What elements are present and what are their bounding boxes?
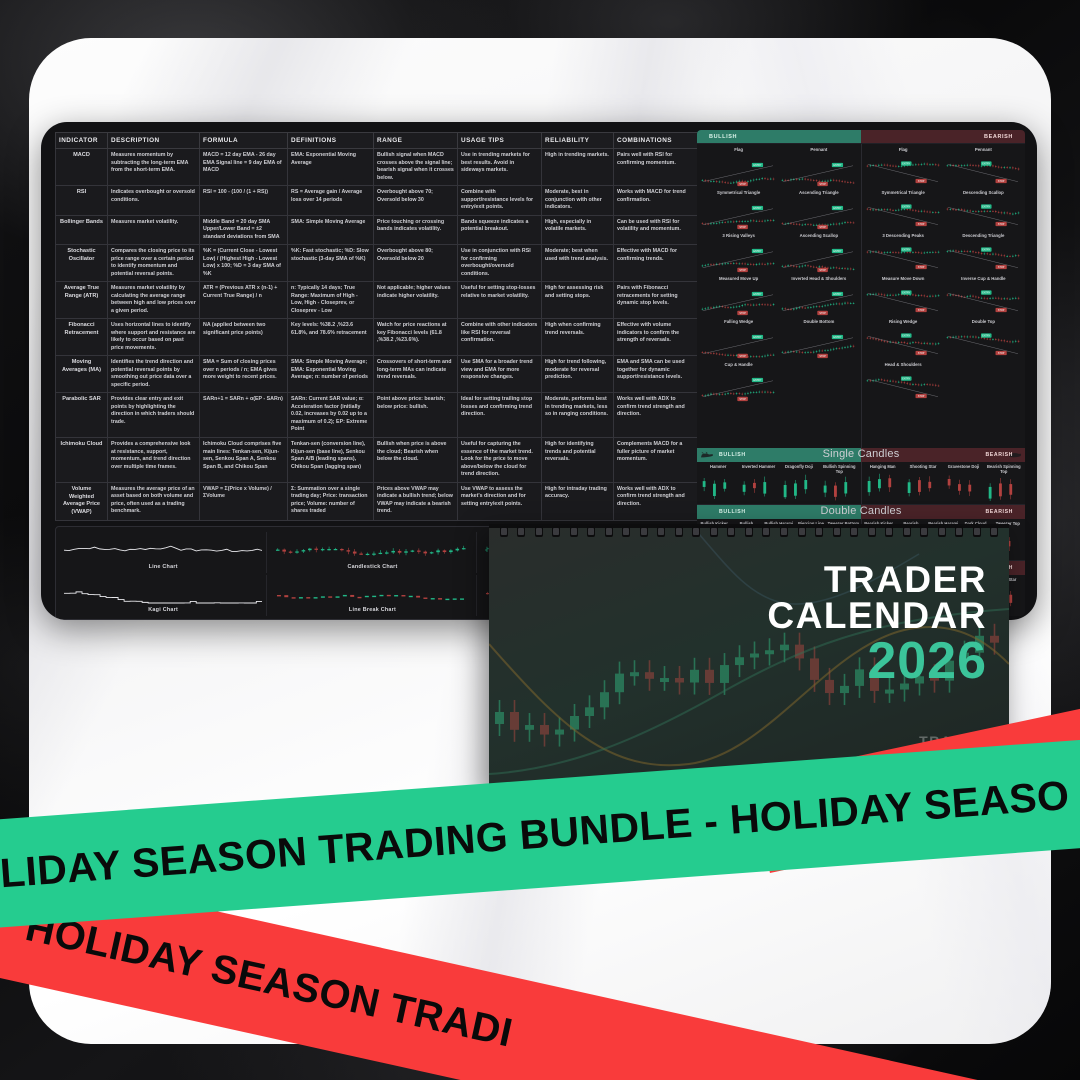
- band-tag-bearish-2: BEARISH: [985, 509, 1013, 515]
- cell-formula: %K = (Current Close - Lowest Low) / (Hig…: [200, 245, 288, 282]
- spiral-ring: [587, 526, 595, 537]
- cell-indicator: Ichimoku Cloud: [56, 437, 108, 482]
- pattern-header-bullish: BULLISH: [697, 130, 861, 143]
- cell-definitions: Σ: Summation over a single trading day; …: [288, 482, 374, 521]
- svg-text:ENTRY: ENTRY: [902, 378, 910, 381]
- cell-combinations: Pairs with Fibonacci retracements for se…: [614, 282, 698, 319]
- table-header-1: DESCRIPTION: [108, 133, 200, 149]
- candle-hammer: Hammer: [698, 464, 738, 500]
- svg-text:STOP: STOP: [739, 226, 746, 229]
- cell-usage: Use VWAP to assess the market's directio…: [458, 482, 542, 521]
- pattern-label: Flag: [734, 147, 743, 157]
- spiral-ring: [938, 526, 946, 537]
- spiral-ring: [727, 526, 735, 537]
- candle-hanging-man: Hanging Man: [863, 464, 903, 500]
- chart-type-kagi: Kagi Chart: [60, 575, 267, 616]
- svg-text:STOP: STOP: [998, 352, 1005, 355]
- bearish-patterns-grid: FlagSTOPENTRYPennantSTOPENTRYSymmetrical…: [862, 144, 1026, 448]
- svg-text:STOP: STOP: [739, 312, 746, 315]
- cell-indicator: RSI: [56, 186, 108, 216]
- cell-indicator: Parabolic SAR: [56, 393, 108, 438]
- calendar-title-block: TRADER CALENDAR 2026: [767, 562, 987, 687]
- cell-usage: Combine with support/resistance levels f…: [458, 186, 542, 216]
- cell-usage: Combine with other indicators like RSI f…: [458, 319, 542, 356]
- svg-text:STOP: STOP: [739, 355, 746, 358]
- pattern-head-shoulders: Head & ShouldersSTOPENTRY: [864, 362, 943, 404]
- calendar-title-line1: TRADER: [767, 562, 987, 598]
- candle-shooting-star: Shooting Star: [903, 464, 943, 500]
- bullish-patterns-grid: FlagENTRYSTOPPennantENTRYSTOPSymmetrical…: [697, 144, 862, 448]
- spiral-ring: [745, 526, 753, 537]
- chart-type-label: Kagi Chart: [64, 607, 262, 613]
- svg-text:STOP: STOP: [998, 309, 1005, 312]
- cell-combinations: Complements MACD for a fuller picture of…: [614, 437, 698, 482]
- cell-range: Not applicable; higher values indicate h…: [374, 282, 458, 319]
- candle-label: Shooting Star: [910, 464, 937, 473]
- pattern-flag: FlagENTRYSTOP: [699, 147, 778, 189]
- cell-description: Uses horizontal lines to identify where …: [108, 319, 200, 356]
- candle-gravestone-doji: Gravestone Doji: [943, 464, 983, 500]
- single-bearish-candles: Hanging ManShooting StarGravestone DojiB…: [862, 462, 1026, 503]
- cell-range: Bullish signal when MACD crosses above t…: [374, 149, 458, 186]
- svg-text:STOP: STOP: [917, 266, 924, 269]
- spiral-ring: [675, 526, 683, 537]
- cell-usage: Use SMA for a broader trend view and EMA…: [458, 356, 542, 393]
- candle-label: Bearish Spinning Top: [984, 464, 1024, 474]
- cell-formula: SARn+1 = SARn + α(EP - SARn): [200, 393, 288, 438]
- cell-combinations: Works with MACD for trend confirmation.: [614, 186, 698, 216]
- cell-description: Provides clear entry and exit points by …: [108, 393, 200, 438]
- candle-label: Bullish Spinning Top: [819, 464, 859, 474]
- cell-combinations: Works well with ADX to confirm trend str…: [614, 393, 698, 438]
- cell-definitions: n: Typically 14 days; True Range: Maximu…: [288, 282, 374, 319]
- cell-description: Measures momentum by subtracting the lon…: [108, 149, 200, 186]
- cell-combinations: Works well with ADX to confirm trend str…: [614, 482, 698, 521]
- svg-text:ENTRY: ENTRY: [753, 379, 761, 382]
- indicator-table: INDICATORDESCRIPTIONFORMULADEFINITIONSRA…: [55, 132, 698, 521]
- cell-combinations: Effective with volume indicators to conf…: [614, 319, 698, 356]
- pattern-flag: FlagSTOPENTRY: [864, 147, 943, 189]
- svg-text:STOP: STOP: [917, 309, 924, 312]
- spiral-ring: [885, 526, 893, 537]
- cell-indicator: Stochastic Oscillator: [56, 245, 108, 282]
- table-row: MACDMeasures momentum by subtracting the…: [56, 149, 698, 186]
- svg-text:STOP: STOP: [739, 398, 746, 401]
- table-row: Ichimoku CloudProvides a comprehensive l…: [56, 437, 698, 482]
- svg-text:STOP: STOP: [820, 355, 827, 358]
- cell-definitions: SMA: Simple Moving Average; EMA: Exponen…: [288, 356, 374, 393]
- svg-text:STOP: STOP: [820, 183, 827, 186]
- cell-usage: Ideal for setting trailing stop losses a…: [458, 393, 542, 438]
- calendar-spiral-binding: [489, 524, 1009, 540]
- spiral-ring: [850, 526, 858, 537]
- candle-label: Hammer: [710, 464, 726, 473]
- candle-label: Dragonfly Doji: [785, 464, 813, 473]
- table-row: Fibonacci RetracementUses horizontal lin…: [56, 319, 698, 356]
- svg-text:STOP: STOP: [917, 395, 924, 398]
- pattern-label: Ascending Scallop: [800, 233, 838, 243]
- cell-reliability: Moderate, best in conjunction with other…: [542, 186, 614, 216]
- pattern-label: Ascending Triangle: [799, 190, 839, 200]
- cell-definitions: %K: Fast stochastic; %D: Slow stochastic…: [288, 245, 374, 282]
- candle-label: Gravestone Doji: [948, 464, 979, 473]
- cell-usage: Useful for setting stop-losses relative …: [458, 282, 542, 319]
- cell-combinations: Pairs well with RSI for confirming momen…: [614, 149, 698, 186]
- pattern-label: Inverse Cup & Handle: [961, 276, 1005, 286]
- pattern-label: Descending Scallop: [963, 190, 1004, 200]
- svg-text:ENTRY: ENTRY: [834, 336, 842, 339]
- candle-bearish-spinning-top: Bearish Spinning Top: [984, 464, 1024, 500]
- cell-description: Measures the average price of an asset b…: [108, 482, 200, 521]
- svg-text:STOP: STOP: [739, 183, 746, 186]
- pattern-ascending-scallop: Ascending ScallopENTRYSTOP: [779, 233, 858, 275]
- pattern-descending-triangle: Descending TriangleSTOPENTRY: [944, 233, 1023, 275]
- single-candles-label: Single Candles: [823, 448, 900, 460]
- pattern-double-top: Double TopSTOPENTRY: [944, 319, 1023, 361]
- cell-range: Point above price: bearish; below price:…: [374, 393, 458, 438]
- cell-formula: MACD = 12 day EMA - 26 day EMA Signal li…: [200, 149, 288, 186]
- table-header-7: COMBINATIONS: [614, 133, 698, 149]
- cell-definitions: SARn: Current SAR value; α: Acceleration…: [288, 393, 374, 438]
- cell-definitions: EMA: Exponential Moving Average: [288, 149, 374, 186]
- cell-range: Prices above VWAP may indicate a bullish…: [374, 482, 458, 521]
- pattern-3-rising-valleys: 3 Rising ValleysENTRYSTOP: [699, 233, 778, 275]
- cell-definitions: SMA: Simple Moving Average: [288, 215, 374, 245]
- chart-type-label: Line Break Chart: [273, 607, 471, 613]
- svg-text:ENTRY: ENTRY: [834, 250, 842, 253]
- cell-usage: Use in trending markets for best results…: [458, 149, 542, 186]
- candle-inverted-hammer: Inverted Hammer: [738, 464, 778, 500]
- spiral-ring: [517, 526, 525, 537]
- cell-range: Overbought above 80; Oversold below 20: [374, 245, 458, 282]
- table-row: Volume Weighted Average Price (VWAP)Meas…: [56, 482, 698, 521]
- chart-type-candle: Candlestick Chart: [269, 532, 476, 573]
- pattern-symmetrical-triangle: Symmetrical TriangleENTRYSTOP: [699, 190, 778, 232]
- svg-text:ENTRY: ENTRY: [902, 335, 910, 338]
- pattern-ascending-triangle: Ascending TriangleENTRYSTOP: [779, 190, 858, 232]
- cell-indicator: Average True Range (ATR): [56, 282, 108, 319]
- cell-formula: Middle Band = 20 day SMA Upper/Lower Ban…: [200, 215, 288, 245]
- spiral-ring: [570, 526, 578, 537]
- svg-text:ENTRY: ENTRY: [902, 292, 910, 295]
- spiral-ring: [990, 526, 998, 537]
- pattern-pennant: PennantENTRYSTOP: [779, 147, 858, 189]
- table-row: Stochastic OscillatorCompares the closin…: [56, 245, 698, 282]
- spiral-ring: [605, 526, 613, 537]
- svg-text:ENTRY: ENTRY: [982, 163, 990, 166]
- band-tag-bullish-2: BULLISH: [697, 509, 746, 515]
- calendar-year: 2026: [767, 635, 987, 687]
- table-header-5: USAGE TIPS: [458, 133, 542, 149]
- table-row: Average True Range (ATR)Measures market …: [56, 282, 698, 319]
- cell-formula: VWAP = Σ(Price x Volume) / ΣVolume: [200, 482, 288, 521]
- pattern-pennant: PennantSTOPENTRY: [944, 147, 1023, 189]
- pattern-label: Head & Shoulders: [885, 362, 922, 372]
- table-header-6: RELIABILITY: [542, 133, 614, 149]
- svg-text:STOP: STOP: [998, 223, 1005, 226]
- pattern-label: Pennant: [810, 147, 827, 157]
- pattern-measure-move-down: Measure Move DownSTOPENTRY: [864, 276, 943, 318]
- table-row: Moving Averages (MA)Identifies the trend…: [56, 356, 698, 393]
- pattern-label: Double Top: [972, 319, 995, 329]
- cell-reliability: High for trend following, moderate for r…: [542, 356, 614, 393]
- spiral-ring: [622, 526, 630, 537]
- cell-reliability: High for assessing risk and setting stop…: [542, 282, 614, 319]
- cell-indicator: MACD: [56, 149, 108, 186]
- svg-text:STOP: STOP: [820, 312, 827, 315]
- spiral-ring: [955, 526, 963, 537]
- cell-indicator: Bollinger Bands: [56, 215, 108, 245]
- candle-bullish-spinning-top: Bullish Spinning Top: [819, 464, 859, 500]
- pattern-inverted-head-shoulders: Inverted Head & ShouldersENTRYSTOP: [779, 276, 858, 318]
- svg-text:ENTRY: ENTRY: [834, 293, 842, 296]
- cell-usage: Use in conjunction with RSI for confirmi…: [458, 245, 542, 282]
- table-header-0: INDICATOR: [56, 133, 108, 149]
- cell-description: Measures market volatility by calculatin…: [108, 282, 200, 319]
- pattern-rising-wedge: Rising WedgeSTOPENTRY: [864, 319, 943, 361]
- pattern-measured-move-up: Measured Move UpENTRYSTOP: [699, 276, 778, 318]
- cell-range: Watch for price reactions at key Fibonac…: [374, 319, 458, 356]
- table-row: Parabolic SARProvides clear entry and ex…: [56, 393, 698, 438]
- svg-text:ENTRY: ENTRY: [753, 250, 761, 253]
- cell-reliability: Moderate; best when used with trend anal…: [542, 245, 614, 282]
- cell-description: Measures market volatility.: [108, 215, 200, 245]
- cell-description: Provides a comprehensive look at resista…: [108, 437, 200, 482]
- spiral-ring: [833, 526, 841, 537]
- pattern-descending-scallop: Descending ScallopSTOPENTRY: [944, 190, 1023, 232]
- chart-type-label: Candlestick Chart: [273, 564, 471, 570]
- spiral-ring: [903, 526, 911, 537]
- cell-description: Indicates overbought or oversold conditi…: [108, 186, 200, 216]
- cell-combinations: Effective with MACD for confirming trend…: [614, 245, 698, 282]
- cell-indicator: Volume Weighted Average Price (VWAP): [56, 482, 108, 521]
- spiral-ring: [692, 526, 700, 537]
- spiral-ring: [780, 526, 788, 537]
- cell-range: Overbought above 70; Oversold below 30: [374, 186, 458, 216]
- single-candles-band: BULLISH BEARISH Single Candles: [697, 448, 1025, 462]
- cell-description: Identifies the trend direction and poten…: [108, 356, 200, 393]
- cell-combinations: Can be used with RSI for volatility and …: [614, 215, 698, 245]
- pattern-double-bottom: Double BottomENTRYSTOP: [779, 319, 858, 361]
- chart-type-linebreak: Line Break Chart: [269, 575, 476, 616]
- spiral-ring: [920, 526, 928, 537]
- spiral-ring: [552, 526, 560, 537]
- svg-text:STOP: STOP: [998, 180, 1005, 183]
- pattern-inverse-cup-handle: Inverse Cup & HandleSTOPENTRY: [944, 276, 1023, 318]
- pattern-label: Cup & Handle: [725, 362, 753, 372]
- cell-indicator: Moving Averages (MA): [56, 356, 108, 393]
- svg-text:ENTRY: ENTRY: [982, 249, 990, 252]
- spiral-ring: [535, 526, 543, 537]
- svg-text:ENTRY: ENTRY: [982, 335, 990, 338]
- pattern-label: Flag: [899, 147, 908, 157]
- svg-text:STOP: STOP: [739, 269, 746, 272]
- svg-text:STOP: STOP: [917, 352, 924, 355]
- spiral-ring: [640, 526, 648, 537]
- spiral-ring: [500, 526, 508, 537]
- svg-text:ENTRY: ENTRY: [982, 206, 990, 209]
- cell-range: Bullish when price is above the cloud; B…: [374, 437, 458, 482]
- chart-type-line: Line Chart: [60, 532, 267, 573]
- cell-reliability: High when confirming trend reversals.: [542, 319, 614, 356]
- svg-text:ENTRY: ENTRY: [753, 293, 761, 296]
- pattern-3-descending-peaks: 3 Descending PeaksSTOPENTRY: [864, 233, 943, 275]
- candle-dragonfly-doji: Dragonfly Doji: [779, 464, 819, 500]
- pattern-label: Measure Move Down: [882, 276, 925, 286]
- cell-range: Price touching or crossing bands indicat…: [374, 215, 458, 245]
- table-header-3: DEFINITIONS: [288, 133, 374, 149]
- pattern-cup-handle: Cup & HandleENTRYSTOP: [699, 362, 778, 404]
- svg-text:STOP: STOP: [917, 180, 924, 183]
- svg-text:ENTRY: ENTRY: [753, 207, 761, 210]
- cell-reliability: High in trending markets.: [542, 149, 614, 186]
- band-tag-bearish: BEARISH: [985, 452, 1013, 458]
- spiral-ring: [762, 526, 770, 537]
- pattern-header-bearish: BEARISH: [861, 130, 1025, 143]
- cell-reliability: High for intraday trading accuracy.: [542, 482, 614, 521]
- svg-text:STOP: STOP: [917, 223, 924, 226]
- cell-formula: RSI = 100 - (100 / (1 + RS)): [200, 186, 288, 216]
- pattern-label: Rising Wedge: [889, 319, 917, 329]
- bull-icon: [700, 451, 714, 459]
- svg-text:STOP: STOP: [998, 266, 1005, 269]
- table-row: RSIIndicates overbought or oversold cond…: [56, 186, 698, 216]
- table-header-row: INDICATORDESCRIPTIONFORMULADEFINITIONSRA…: [56, 133, 698, 149]
- spiral-ring: [868, 526, 876, 537]
- candle-label: Inverted Hammer: [742, 464, 775, 473]
- cell-reliability: Moderate, performs best in trending mark…: [542, 393, 614, 438]
- spiral-ring: [815, 526, 823, 537]
- pattern-symmetrical-triangle: Symmetrical TriangleSTOPENTRY: [864, 190, 943, 232]
- pattern-label: Measured Move Up: [719, 276, 758, 286]
- svg-text:ENTRY: ENTRY: [834, 164, 842, 167]
- spiral-ring: [798, 526, 806, 537]
- table-body: MACDMeasures momentum by subtracting the…: [56, 149, 698, 521]
- svg-text:STOP: STOP: [820, 269, 827, 272]
- pattern-label: 3 Descending Peaks: [882, 233, 924, 243]
- pattern-label: Symmetrical Triangle: [717, 190, 760, 200]
- cell-definitions: Tenkan-sen (conversion line), Kijun-sen …: [288, 437, 374, 482]
- spiral-ring: [657, 526, 665, 537]
- cell-formula: ATR = (Previous ATR x (n-1) + Current Tr…: [200, 282, 288, 319]
- pattern-falling-wedge: Falling WedgeENTRYSTOP: [699, 319, 778, 361]
- svg-text:ENTRY: ENTRY: [834, 207, 842, 210]
- pattern-label: 3 Rising Valleys: [722, 233, 754, 243]
- cell-definitions: Key levels: %38.2 ,%23.6 61.8%, and 78.6…: [288, 319, 374, 356]
- cell-usage: Useful for capturing the essence of the …: [458, 437, 542, 482]
- cell-reliability: High for identifying trends and potentia…: [542, 437, 614, 482]
- cell-formula: NA (applied between two significant pric…: [200, 319, 288, 356]
- calendar-title-line2: CALENDAR: [767, 598, 987, 634]
- pattern-label: Symmetrical Triangle: [882, 190, 925, 200]
- candle-label: Hanging Man: [870, 464, 896, 473]
- pattern-header: BULLISH BEARISH: [697, 130, 1025, 143]
- svg-text:ENTRY: ENTRY: [753, 164, 761, 167]
- pattern-label: Pennant: [975, 147, 992, 157]
- spiral-ring: [710, 526, 718, 537]
- table-row: Bollinger BandsMeasures market volatilit…: [56, 215, 698, 245]
- pattern-label: Descending Triangle: [962, 233, 1004, 243]
- svg-text:ENTRY: ENTRY: [753, 336, 761, 339]
- pattern-label: Double Bottom: [803, 319, 834, 329]
- chart-type-label: Line Chart: [64, 564, 262, 570]
- cell-formula: SMA = Sum of closing prices over n perio…: [200, 356, 288, 393]
- pattern-label: Inverted Head & Shoulders: [791, 276, 846, 286]
- double-candles-band: BULLISH BEARISH Double Candles: [697, 505, 1025, 519]
- spiral-ring: [973, 526, 981, 537]
- svg-text:ENTRY: ENTRY: [982, 292, 990, 295]
- cell-range: Crossovers of short-term and long-term M…: [374, 356, 458, 393]
- svg-text:ENTRY: ENTRY: [902, 206, 910, 209]
- cell-definitions: RS = Average gain / Average loss over 14…: [288, 186, 374, 216]
- double-candles-label: Double Candles: [820, 505, 901, 517]
- cell-usage: Bands squeeze indicates a potential brea…: [458, 215, 542, 245]
- pattern-label: Falling Wedge: [724, 319, 753, 329]
- table-header-4: RANGE: [374, 133, 458, 149]
- cell-combinations: EMA and SMA can be used together for dyn…: [614, 356, 698, 393]
- cell-indicator: Fibonacci Retracement: [56, 319, 108, 356]
- svg-text:ENTRY: ENTRY: [902, 163, 910, 166]
- svg-text:STOP: STOP: [820, 226, 827, 229]
- cell-description: Compares the closing price to its price …: [108, 245, 200, 282]
- cell-reliability: High, especially in volatile markets.: [542, 215, 614, 245]
- table-header-2: FORMULA: [200, 133, 288, 149]
- single-bullish-candles: HammerInverted HammerDragonfly DojiBulli…: [697, 462, 862, 503]
- cell-formula: Ichimoku Cloud comprises five main lines…: [200, 437, 288, 482]
- svg-text:ENTRY: ENTRY: [902, 249, 910, 252]
